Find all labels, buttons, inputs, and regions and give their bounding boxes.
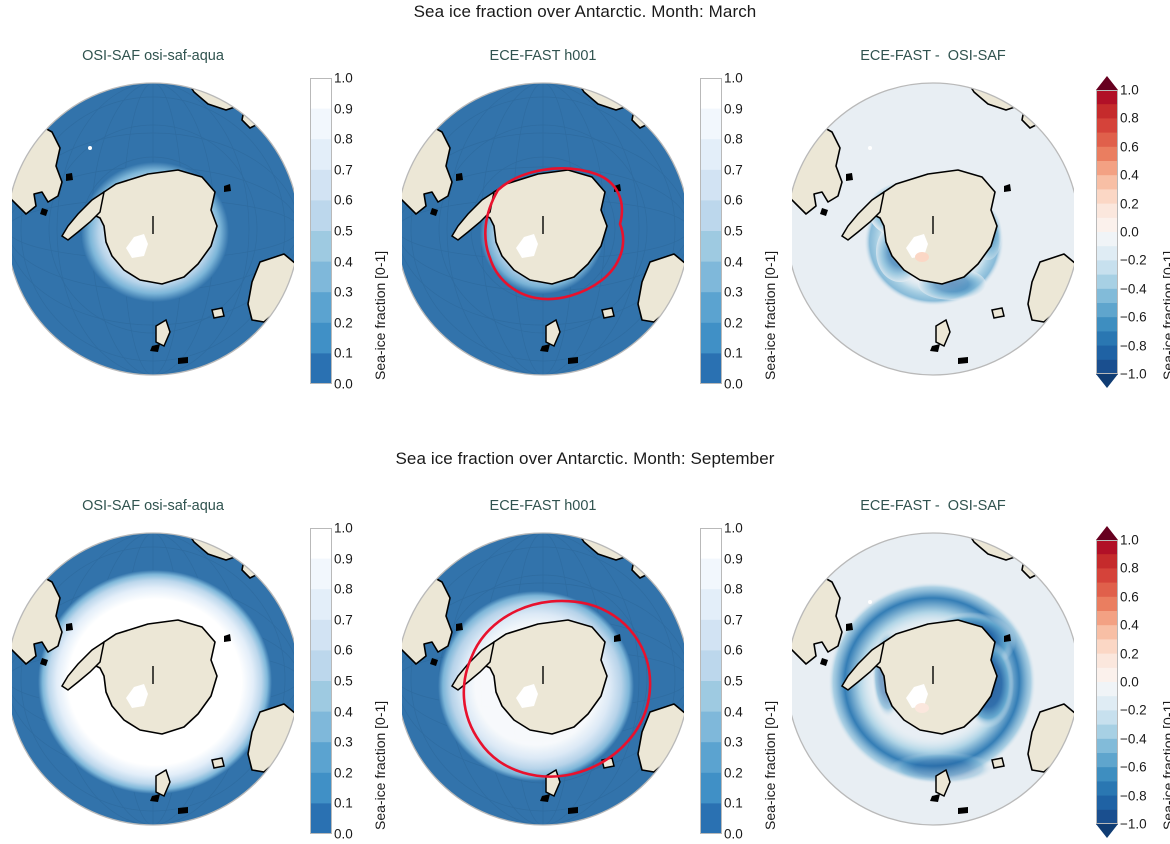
colorbar-tick-label: 1.0 — [1120, 83, 1139, 98]
colorbar-tick-label: 0.8 — [724, 132, 743, 147]
colorbar-tick-label: 0.5 — [334, 674, 353, 689]
colorbar-tick-label: 0.3 — [724, 285, 743, 300]
colorbar-tick-label: 0.6 — [1120, 139, 1139, 154]
colorbar-tick-label: 0.3 — [724, 735, 743, 750]
colorbar-tick-label: 0.7 — [334, 162, 353, 177]
panel-title-september-obs: OSI-SAF osi-saf-aqua — [8, 498, 298, 514]
colorbar-tick-label: 1.0 — [724, 71, 743, 86]
colorbar-tick-label: 0.2 — [334, 765, 353, 780]
globe-svg-september-diff — [792, 524, 1074, 834]
colorbar-tick-label: 0.7 — [724, 612, 743, 627]
globe-svg-september-obs — [12, 524, 294, 834]
colorbar-tick-label: −0.2 — [1120, 703, 1147, 718]
globe-march-diff — [792, 74, 1074, 384]
panel-march-model: ECE-FAST h001 — [398, 48, 688, 388]
colorbar-diff-march-label: Sea-ice fraction [0-1] — [1160, 251, 1170, 380]
colorbar-tick-label: 0.4 — [1120, 168, 1139, 183]
colorbar-tick-label: 0.0 — [334, 377, 353, 392]
colorbar-seaice-march-2-label: Sea-ice fraction [0-1] — [762, 251, 778, 380]
colorbar-tick-label: 0.7 — [724, 162, 743, 177]
colorbar-tick-label: −1.0 — [1120, 367, 1147, 382]
colorbar-tick-label: 0.6 — [724, 643, 743, 658]
colorbar-tick-label: −0.2 — [1120, 253, 1147, 268]
panel-september-model: ECE-FAST h001 — [398, 498, 688, 838]
colorbar-diff-march-ticks: 1.00.80.60.40.20.0−0.2−0.4−0.6−0.8−1.0 — [1120, 76, 1164, 388]
colorbar-seaice-september-2-label: Sea-ice fraction [0-1] — [762, 701, 778, 830]
panel-september-diff: ECE-FAST - OSI-SAF — [788, 498, 1078, 838]
colorbar-tick-label: −0.4 — [1120, 281, 1147, 296]
colorbar-diff-september-label: Sea-ice fraction [0-1] — [1160, 701, 1170, 830]
colorbar-tick-label: 0.1 — [334, 796, 353, 811]
colorbar-diff-march-bar — [1096, 76, 1118, 388]
suptitle-march: Sea ice fraction over Antarctic. Month: … — [0, 2, 1170, 22]
colorbar-seaice-march-2-ticks: 1.00.90.80.70.60.50.40.30.20.10.0 — [724, 78, 764, 384]
colorbar-seaice-march-bar — [310, 78, 332, 384]
colorbar-tick-label: 0.6 — [334, 193, 353, 208]
colorbar-seaice-march-2-bar — [700, 78, 722, 384]
colorbar-tick-label: 0.6 — [1120, 589, 1139, 604]
colorbar-tick-label: 0.5 — [334, 224, 353, 239]
globe-september-obs — [12, 524, 294, 834]
colorbar-tick-label: 1.0 — [724, 521, 743, 536]
panel-title-september-diff: ECE-FAST - OSI-SAF — [788, 498, 1078, 514]
colorbar-tick-label: 0.0 — [1120, 225, 1139, 240]
colorbar-tick-label: 0.0 — [724, 377, 743, 392]
globe-svg-march-model — [402, 74, 684, 384]
colorbar-tick-label: 0.0 — [1120, 675, 1139, 690]
colorbar-tick-label: 0.5 — [724, 674, 743, 689]
panel-title-march-model: ECE-FAST h001 — [398, 48, 688, 64]
colorbar-tick-label: 0.4 — [334, 254, 353, 269]
colorbar-tick-label: 0.3 — [334, 285, 353, 300]
colorbar-tick-label: 0.2 — [724, 765, 743, 780]
colorbar-seaice-september-2-ticks: 1.00.90.80.70.60.50.40.30.20.10.0 — [724, 528, 764, 834]
panel-title-march-obs: OSI-SAF osi-saf-aqua — [8, 48, 298, 64]
colorbar-seaice-march-ticks: 1.00.90.80.70.60.50.40.30.20.10.0 — [334, 78, 374, 384]
colorbar-tick-label: −0.8 — [1120, 788, 1147, 803]
colorbar-tick-label: 0.2 — [724, 315, 743, 330]
panel-title-march-diff: ECE-FAST - OSI-SAF — [788, 48, 1078, 64]
colorbar-tick-label: 0.2 — [1120, 646, 1139, 661]
panel-september-obs: OSI-SAF osi-saf-aqua — [8, 498, 298, 838]
colorbar-tick-label: −0.4 — [1120, 731, 1147, 746]
colorbar-tick-label: 0.4 — [724, 254, 743, 269]
colorbar-tick-label: 0.1 — [724, 346, 743, 361]
colorbar-tick-label: 0.7 — [334, 612, 353, 627]
colorbar-tick-label: 1.0 — [334, 521, 353, 536]
colorbar-tick-label: 0.6 — [724, 193, 743, 208]
globe-svg-march-diff — [792, 74, 1074, 384]
colorbar-tick-label: 0.9 — [334, 551, 353, 566]
colorbar-tick-label: 0.8 — [724, 582, 743, 597]
suptitle-september: Sea ice fraction over Antarctic. Month: … — [0, 449, 1170, 469]
colorbar-tick-label: 0.5 — [724, 224, 743, 239]
colorbar-tick-label: −0.6 — [1120, 760, 1147, 775]
colorbar-diff-september-bar — [1096, 526, 1118, 838]
colorbar-tick-label: 0.3 — [334, 735, 353, 750]
colorbar-tick-label: 0.4 — [724, 704, 743, 719]
globe-march-model — [402, 74, 684, 384]
colorbar-tick-label: 0.8 — [334, 132, 353, 147]
colorbar-tick-label: 0.2 — [334, 315, 353, 330]
colorbar-seaice-september-label: Sea-ice fraction [0-1] — [372, 701, 388, 830]
colorbar-tick-label: −1.0 — [1120, 817, 1147, 832]
colorbar-tick-label: 0.1 — [724, 796, 743, 811]
colorbar-seaice-september-ticks: 1.00.90.80.70.60.50.40.30.20.10.0 — [334, 528, 374, 834]
colorbar-seaice-march-label: Sea-ice fraction [0-1] — [372, 251, 388, 380]
figure-root: Sea ice fraction over Antarctic. Month: … — [0, 0, 1170, 844]
colorbar-diff-september-ticks: 1.00.80.60.40.20.0−0.2−0.4−0.6−0.8−1.0 — [1120, 526, 1164, 838]
colorbar-tick-label: 0.9 — [724, 101, 743, 116]
globe-september-diff — [792, 524, 1074, 834]
colorbar-tick-label: −0.8 — [1120, 338, 1147, 353]
colorbar-tick-label: 1.0 — [334, 71, 353, 86]
globe-svg-september-model — [402, 524, 684, 834]
colorbar-tick-label: 0.8 — [1120, 561, 1139, 576]
panel-march-diff: ECE-FAST - OSI-SAF — [788, 48, 1078, 388]
colorbar-tick-label: 1.0 — [1120, 533, 1139, 548]
globe-september-model — [402, 524, 684, 834]
colorbar-tick-label: 0.2 — [1120, 196, 1139, 211]
colorbar-tick-label: 0.8 — [1120, 111, 1139, 126]
colorbar-tick-label: 0.8 — [334, 582, 353, 597]
panel-title-september-model: ECE-FAST h001 — [398, 498, 688, 514]
globe-svg-march-obs — [12, 74, 294, 384]
colorbar-tick-label: 0.4 — [334, 704, 353, 719]
panel-march-obs: OSI-SAF osi-saf-aqua — [8, 48, 298, 388]
colorbar-tick-label: 0.1 — [334, 346, 353, 361]
colorbar-seaice-september-bar — [310, 528, 332, 834]
colorbar-tick-label: −0.6 — [1120, 310, 1147, 325]
colorbar-tick-label: 0.9 — [334, 101, 353, 116]
colorbar-tick-label: 0.9 — [724, 551, 743, 566]
colorbar-tick-label: 0.0 — [724, 827, 743, 842]
colorbar-seaice-september-2-bar — [700, 528, 722, 834]
colorbar-tick-label: 0.6 — [334, 643, 353, 658]
globe-march-obs — [12, 74, 294, 384]
colorbar-tick-label: 0.0 — [334, 827, 353, 842]
colorbar-tick-label: 0.4 — [1120, 618, 1139, 633]
